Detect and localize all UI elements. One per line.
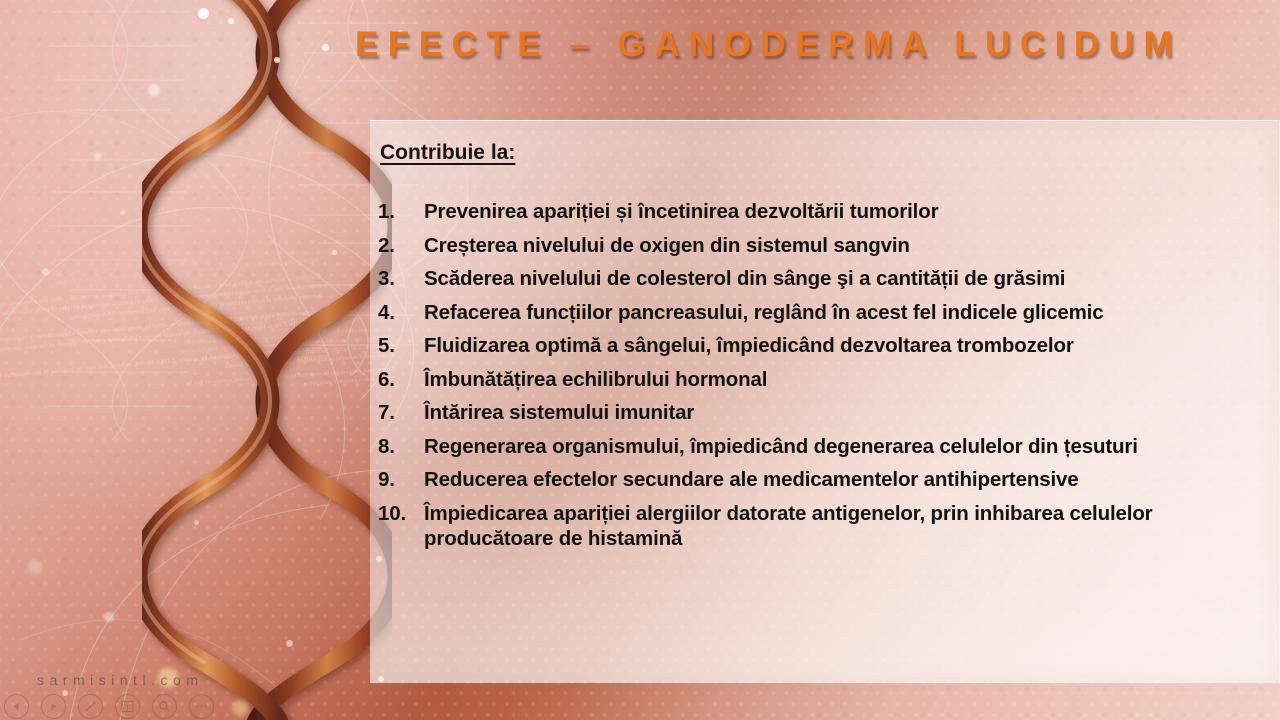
zoom-tool-button[interactable]	[152, 694, 177, 719]
content-panel: Contribuie la: 1.Prevenirea apariției și…	[370, 120, 1280, 683]
list-item: 2.Creșterea nivelului de oxigen din sist…	[370, 233, 1270, 258]
list-item-text: Împiedicarea apariției alergiilor datora…	[424, 501, 1270, 551]
list-item-text: Regenerarea organismului, împiedicând de…	[424, 434, 1270, 459]
list-item-number: 1.	[370, 199, 424, 224]
list-item-number: 7.	[370, 400, 424, 425]
list-item-number: 4.	[370, 300, 424, 325]
pen-tool-button[interactable]	[78, 694, 103, 719]
watermark-sarmisintl: sarmisintl.com	[37, 672, 203, 688]
list-item-text: Întărirea sistemului imunitar	[424, 400, 1270, 425]
presentation-slide: Although the B-DNA form is most common u…	[0, 0, 1280, 720]
list-item-text: Fluidizarea optimă a sângelui, împiedicâ…	[424, 333, 1270, 358]
list-item-text: Refacerea funcțiilor pancreasului, reglâ…	[424, 300, 1270, 325]
list-item-text: Prevenirea apariției și încetinirea dezv…	[424, 199, 1270, 224]
pen-icon	[84, 700, 97, 713]
next-slide-button[interactable]	[41, 694, 66, 719]
list-item-number: 8.	[370, 434, 424, 459]
list-item-number: 2.	[370, 233, 424, 258]
list-item-text: Îmbunătățirea echilibrului hormonal	[424, 367, 1270, 392]
list-item-number: 5.	[370, 333, 424, 358]
list-item: 10.Împiedicarea apariției alergiilor dat…	[370, 501, 1270, 551]
list-item-number: 6.	[370, 367, 424, 392]
all-slides-button[interactable]	[115, 694, 140, 719]
list-item: 3.Scăderea nivelului de colesterol din s…	[370, 266, 1270, 291]
list-item-text: Reducerea efectelor secundare ale medica…	[424, 467, 1270, 492]
list-item: 6.Îmbunătățirea echilibrului hormonal	[370, 367, 1270, 392]
chevron-right-icon	[49, 702, 58, 711]
chevron-left-icon	[12, 702, 21, 711]
more-options-button[interactable]	[189, 694, 214, 719]
ellipsis-icon	[195, 704, 208, 709]
list-item-number: 3.	[370, 266, 424, 291]
list-item-text: Creșterea nivelului de oxigen din sistem…	[424, 233, 1270, 258]
previous-slide-button[interactable]	[4, 694, 29, 719]
list-item: 7.Întărirea sistemului imunitar	[370, 400, 1270, 425]
title-bar: EFECTE – GANODERMA LUCIDUM	[0, 0, 1280, 92]
list-item: 5.Fluidizarea optimă a sângelui, împiedi…	[370, 333, 1270, 358]
list-item-number: 9.	[370, 467, 424, 492]
list-item: 8.Regenerarea organismului, împiedicând …	[370, 434, 1270, 459]
magnifier-icon	[158, 700, 171, 713]
list-item: 4.Refacerea funcțiilor pancreasului, reg…	[370, 300, 1270, 325]
panel-heading: Contribuie la:	[380, 141, 515, 165]
list-item-number: 10.	[370, 501, 424, 526]
list-item: 9.Reducerea efectelor secundare ale medi…	[370, 467, 1270, 492]
presentation-controls	[0, 694, 214, 719]
list-item-text: Scăderea nivelului de colesterol din sân…	[424, 266, 1270, 291]
list-item: 1.Prevenirea apariției și încetinirea de…	[370, 199, 1270, 224]
effects-list: 1.Prevenirea apariției și încetinirea de…	[370, 199, 1270, 551]
grid-slides-icon	[121, 700, 134, 713]
page-title: EFECTE – GANODERMA LUCIDUM	[355, 24, 1280, 66]
